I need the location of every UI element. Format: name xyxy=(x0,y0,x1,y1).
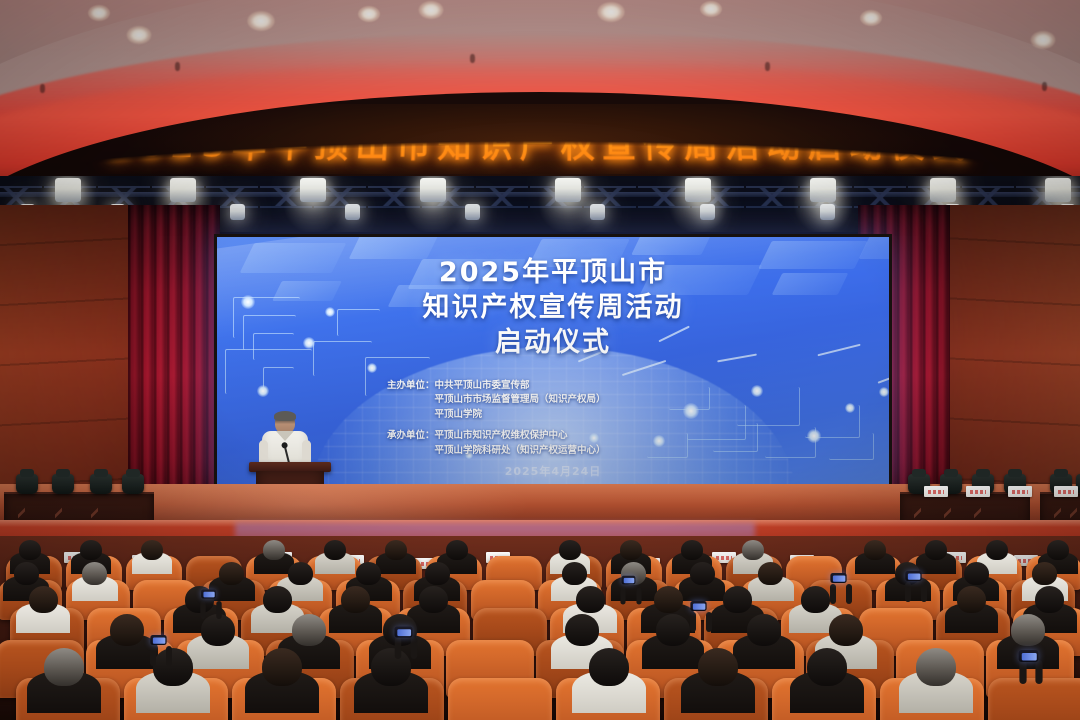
truss-light-icon xyxy=(55,178,81,202)
attendee-head xyxy=(565,614,599,646)
name-card xyxy=(1008,486,1032,497)
attendee-head xyxy=(957,586,986,613)
platform-vent xyxy=(944,506,951,520)
circuit-node xyxy=(879,387,889,397)
co-organizers-values: 平顶山市知识产权维权保护中心 平顶山学院科研处（知识产权运营中心） xyxy=(435,429,606,458)
attendee-head xyxy=(14,562,39,585)
truss-light-icon xyxy=(555,178,581,202)
screen-rhombus xyxy=(631,237,713,255)
ceiling-fixture-dot xyxy=(1042,82,1047,91)
attendee-arm xyxy=(411,637,418,659)
organizers-label: 主办单位： xyxy=(387,379,435,422)
ceiling-downlight-icon xyxy=(88,5,110,21)
screen-title-line-2: 知识产权宣传周活动 xyxy=(217,290,889,325)
circuit-node xyxy=(807,429,821,443)
attendee-arm xyxy=(706,612,712,632)
attendee-head xyxy=(654,586,683,613)
platform-vent xyxy=(1070,506,1077,520)
attendee-arm xyxy=(921,582,927,602)
attendee-head xyxy=(153,648,193,686)
attendee-head xyxy=(562,562,587,585)
ceiling-downlight-icon xyxy=(247,11,274,31)
attendee-head xyxy=(747,614,781,646)
attendee-arm xyxy=(905,582,911,602)
attendee-arm xyxy=(150,646,156,666)
attendee-arm xyxy=(1035,660,1042,684)
attendee-head xyxy=(723,586,752,613)
truss-light-icon xyxy=(820,204,835,220)
phone-icon xyxy=(622,576,636,585)
circuit-node xyxy=(683,403,699,419)
auditorium-photo: 2025年平顶山市知识产权宣传周活动启动仪式 2025年平顶山市 知识产权宣传周… xyxy=(0,0,1080,720)
truss-light-icon xyxy=(590,204,605,220)
attendee-head xyxy=(263,540,285,560)
circuit-trace xyxy=(829,433,874,460)
attendee-arm xyxy=(620,588,625,605)
attendee-head xyxy=(29,586,58,613)
attendee-head xyxy=(262,648,302,686)
ceiling-downlight-icon xyxy=(358,6,380,22)
ceiling-downlight-icon xyxy=(860,10,882,26)
name-card xyxy=(1054,486,1078,497)
ceiling-fixture-dot xyxy=(470,54,475,63)
attendee-head xyxy=(1032,562,1057,585)
attendee-head xyxy=(589,648,629,686)
platform-vent xyxy=(974,506,981,520)
circuit-node xyxy=(367,363,377,373)
attendee-head xyxy=(219,562,244,585)
circuit-trace xyxy=(263,367,294,388)
attendee-head xyxy=(807,648,847,686)
attendee-arm xyxy=(1019,660,1026,684)
led-banner-text: 2025年平顶山市知识产权宣传周活动启动仪式 xyxy=(107,118,974,167)
truss-light-icon xyxy=(345,204,360,220)
platform-vent xyxy=(91,506,98,520)
attendee-head xyxy=(620,540,642,560)
ceiling-downlight-icon xyxy=(127,26,152,44)
phone-icon xyxy=(690,601,706,611)
co-organizers-label: 承办单位： xyxy=(387,429,435,458)
attendee-arm xyxy=(846,584,852,604)
platform-vent xyxy=(1054,506,1061,520)
phone-icon xyxy=(201,590,216,599)
platform-vent xyxy=(18,506,25,520)
led-screen-content: 2025年平顶山市 知识产权宣传周活动 启动仪式 主办单位： 中共平顶山市委宣传… xyxy=(217,237,889,487)
organizer-3: 平顶山学院 xyxy=(435,408,606,422)
speaker-hair xyxy=(274,411,296,421)
stage-curtain-left xyxy=(128,205,220,515)
attendee-head xyxy=(446,540,468,560)
phone-icon xyxy=(905,571,921,581)
truss-light-icon xyxy=(230,204,245,220)
truss-light-icon xyxy=(170,178,196,202)
attendee-head xyxy=(80,540,102,560)
phone-icon xyxy=(150,635,166,645)
attendee-head xyxy=(419,586,448,613)
audience-area xyxy=(0,536,1080,720)
attendee-head xyxy=(1035,586,1064,613)
co-organizer-1: 平顶山市知识产权维权保护中心 xyxy=(435,429,606,443)
screen-organizer-block: 主办单位： 中共平顶山市委宣传部 平顶山市市场监督管理局（知识产权局） 平顶山学… xyxy=(387,379,606,465)
attendee-head xyxy=(371,648,411,686)
led-screen: 2025年平顶山市 知识产权宣传周活动 启动仪式 主办单位： 中共平顶山市委宣传… xyxy=(214,234,892,490)
attendee-head xyxy=(1047,540,1069,560)
name-card xyxy=(924,486,948,497)
ceiling-fixture-dot xyxy=(175,62,180,71)
truss-light-icon xyxy=(700,204,715,220)
moving-head-light-icon xyxy=(122,474,144,494)
truss-light-icon xyxy=(465,204,480,220)
truss-lattice xyxy=(476,186,528,208)
attendee-head xyxy=(925,540,947,560)
attendee-head xyxy=(356,562,381,585)
attendee-head xyxy=(292,614,326,646)
attendee-head xyxy=(385,540,407,560)
attendee-arm xyxy=(690,612,696,632)
name-card xyxy=(966,486,990,497)
truss-light-icon xyxy=(930,178,956,202)
organizers-group: 主办单位： 中共平顶山市委宣传部 平顶山市市场监督管理局（知识产权局） 平顶山学… xyxy=(387,379,606,422)
attendee-head xyxy=(986,540,1008,560)
organizer-2: 平顶山市市场监督管理局（知识产权局） xyxy=(435,393,606,407)
attendee-head xyxy=(690,562,715,585)
truss-lattice xyxy=(746,186,798,208)
attendee-head xyxy=(288,562,313,585)
ceiling-downlight-icon xyxy=(700,1,722,17)
attendee-arm xyxy=(166,646,172,666)
attendee-head xyxy=(110,614,144,646)
co-organizers-group: 承办单位： 平顶山市知识产权维权保护中心 平顶山学院科研处（知识产权运营中心） xyxy=(387,429,606,458)
co-organizer-2: 平顶山学院科研处（知识产权运营中心） xyxy=(435,444,606,458)
attendee-arm xyxy=(830,584,836,604)
ceiling-downlight-icon xyxy=(1031,31,1056,49)
truss-light-icon xyxy=(420,178,446,202)
circuit-node xyxy=(653,435,665,447)
attendee-head xyxy=(656,614,690,646)
circuit-trace xyxy=(713,423,758,452)
attendee-head xyxy=(758,562,783,585)
attendee-head xyxy=(19,540,41,560)
attendee-head xyxy=(341,586,370,613)
truss-light-icon xyxy=(685,178,711,202)
attendee-head xyxy=(742,540,764,560)
truss-light-icon xyxy=(810,178,836,202)
attendee-head xyxy=(916,648,956,686)
circuit-node xyxy=(257,385,269,397)
truss-light-icon xyxy=(1045,178,1071,202)
ceiling-downlight-icon xyxy=(597,2,624,22)
attendee-head xyxy=(801,586,830,613)
truss-light-icon xyxy=(300,178,326,202)
ceiling-fixture-dot xyxy=(40,84,45,93)
circuit-trace xyxy=(737,387,800,426)
attendee-head xyxy=(324,540,346,560)
circuit-node xyxy=(751,385,763,397)
led-banner: 2025年平顶山市知识产权宣传周活动启动仪式 xyxy=(0,110,1080,174)
screen-title-line-1: 2025年平顶山市 xyxy=(217,255,889,290)
circuit-spark xyxy=(878,372,889,383)
attendee-head xyxy=(141,540,163,560)
screen-title-line-3: 启动仪式 xyxy=(217,325,889,360)
attendee-head xyxy=(201,614,235,646)
circuit-node xyxy=(845,403,855,413)
attendee-head xyxy=(1011,614,1045,646)
attendee-head xyxy=(425,562,450,585)
phone-icon xyxy=(1019,650,1039,662)
attendee-head xyxy=(44,648,84,686)
audience-seat xyxy=(448,678,552,720)
attendee-arm xyxy=(636,588,641,605)
attendee-head xyxy=(698,648,738,686)
audience-seat xyxy=(988,678,1080,720)
ceiling-downlight-icon xyxy=(419,1,444,19)
platform-vent xyxy=(914,506,921,520)
attendee-head xyxy=(681,540,703,560)
platform-vent xyxy=(55,506,62,520)
attendee-head xyxy=(263,586,292,613)
phone-icon xyxy=(395,627,413,638)
ceiling-fixture-dot xyxy=(765,62,770,71)
screen-title: 2025年平顶山市 知识产权宣传周活动 启动仪式 xyxy=(217,255,889,360)
attendee-head xyxy=(829,614,863,646)
attendee-arm xyxy=(395,637,402,659)
moving-head-light-icon xyxy=(90,474,112,494)
organizer-1: 中共平顶山市委宣传部 xyxy=(435,379,606,393)
phone-icon xyxy=(830,573,846,583)
attendee-arm xyxy=(200,601,205,619)
organizers-values: 中共平顶山市委宣传部 平顶山市市场监督管理局（知识产权局） 平顶山学院 xyxy=(435,379,606,422)
attendee-arm xyxy=(216,601,221,619)
attendee-head xyxy=(559,540,581,560)
attendee-head xyxy=(864,540,886,560)
attendee-head xyxy=(964,562,989,585)
attendee-head xyxy=(576,586,605,613)
moving-head-light-icon xyxy=(52,474,74,494)
moving-head-light-icon xyxy=(16,474,38,494)
attendee-head xyxy=(82,562,107,585)
